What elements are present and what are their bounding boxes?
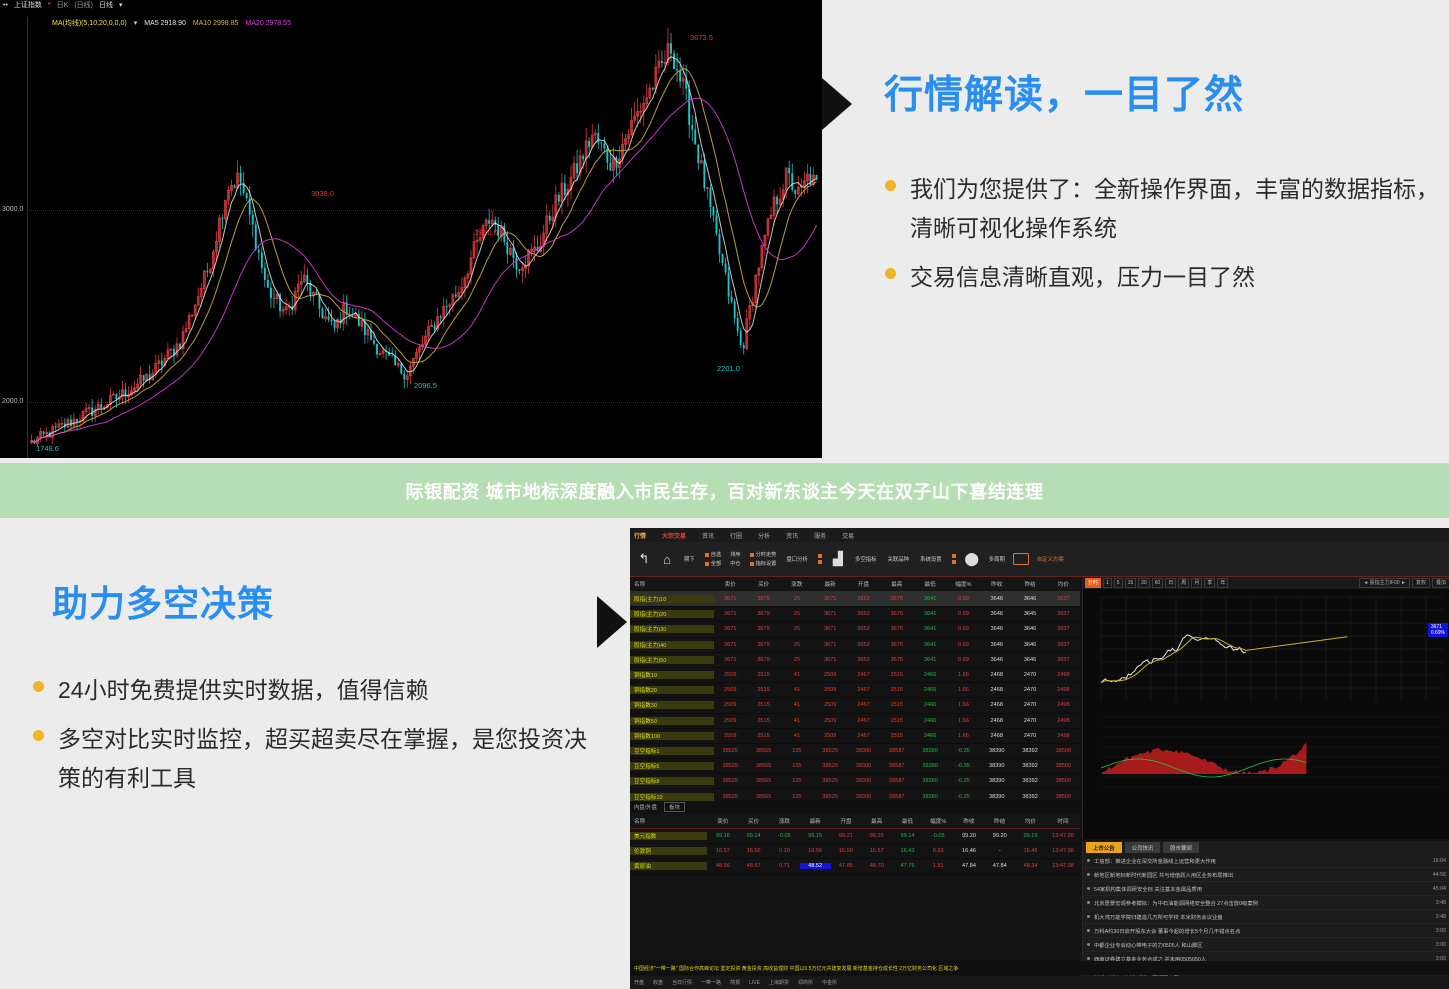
menu-item-3[interactable]: 行圈 bbox=[730, 531, 742, 540]
status-item-0[interactable]: 开盘 bbox=[634, 979, 644, 986]
table-cell: 38565 bbox=[747, 794, 780, 800]
col-header-10[interactable]: 昨结 bbox=[1013, 580, 1046, 588]
table-row[interactable]: 铜指数30250925154125092467251524661.6624682… bbox=[630, 698, 1080, 713]
table-cell: 38565 bbox=[747, 763, 780, 769]
table-cell: 38390 bbox=[980, 778, 1013, 784]
table-cell: 2509 bbox=[814, 672, 847, 678]
row-name[interactable]: 伦敦铜 bbox=[630, 847, 707, 855]
row-name[interactable]: 股指(主力)20 bbox=[630, 610, 714, 618]
period-btn-15[interactable]: 15 bbox=[1125, 578, 1137, 588]
table-row[interactable]: 铜指数100250925154125092467251524661.662468… bbox=[630, 729, 1080, 744]
table-cell: 38500 bbox=[1047, 778, 1080, 784]
trading-terminal[interactable]: 行情大宗交易资讯行圈分析资讯服务交易 ↰ ⌂ 期下 自选 全部 排序 中仓 分时… bbox=[630, 528, 1449, 989]
menu-item-0[interactable]: 行情 bbox=[634, 531, 646, 540]
terminal-menubar[interactable]: 行情大宗交易资讯行圈分析资讯服务交易 bbox=[630, 528, 1449, 542]
table-cell: 25 bbox=[780, 611, 813, 617]
status-item-3[interactable]: 一带一路 bbox=[701, 979, 721, 986]
row-name[interactable]: 豆空指标10 bbox=[630, 793, 714, 801]
table-cell: -0.05 bbox=[923, 833, 954, 839]
col-header-8[interactable]: 幅度% bbox=[947, 580, 980, 588]
table-cell: 38300 bbox=[847, 778, 880, 784]
chart-opt-0[interactable]: 复权 bbox=[1412, 578, 1430, 588]
square-icon bbox=[818, 560, 822, 564]
table-cell: 2515 bbox=[880, 672, 913, 678]
table-cell: 2515 bbox=[747, 672, 780, 678]
table-cell: 3646 bbox=[1013, 596, 1046, 602]
table-cell: 2470 bbox=[1013, 672, 1046, 678]
col-header-6[interactable]: 最高 bbox=[880, 580, 913, 588]
table-cell: 2466 bbox=[913, 702, 946, 708]
table-cell: 0.63 bbox=[923, 848, 954, 854]
table-cell: 99.14 bbox=[738, 833, 769, 839]
table-cell: 2509 bbox=[814, 718, 847, 724]
chip-label[interactable]: 指标设置 bbox=[756, 560, 777, 567]
period-active[interactable]: 分时 bbox=[1085, 578, 1101, 588]
col-header-0[interactable]: 名称 bbox=[630, 580, 714, 588]
top-text-block: 行情解读，一目了然 我们为您提供了：全新操作界面，丰富的数据指标，清晰可视化操作… bbox=[855, 0, 1449, 460]
table-cell: 3652 bbox=[847, 626, 880, 632]
row-name[interactable]: 铜指数50 bbox=[630, 717, 714, 725]
table-cell: 13:47:38 bbox=[1046, 863, 1080, 869]
news-tab-0[interactable]: 上市公告 bbox=[1086, 842, 1122, 853]
table-cell: -0.35 bbox=[947, 778, 980, 784]
toolbar-right-label[interactable]: 自定义方案 bbox=[1037, 555, 1064, 563]
table-cell: 2470 bbox=[1013, 733, 1046, 739]
table-cell: 3637 bbox=[1047, 626, 1080, 632]
news-title[interactable]: 中都企业专会动心带电子的力0505人 和山脚区 bbox=[1094, 941, 1432, 949]
table-cell: 38587 bbox=[880, 748, 913, 754]
table-cell: 2470 bbox=[1013, 702, 1046, 708]
row-name[interactable]: 股指(主力)40 bbox=[630, 641, 714, 649]
col-header-8[interactable]: 幅度% bbox=[923, 817, 954, 825]
toolbar-label-7[interactable]: 多周期 bbox=[989, 555, 1005, 563]
table-cell: 99.21 bbox=[831, 833, 862, 839]
col-header-11[interactable]: 均价 bbox=[1047, 580, 1080, 588]
table-cell: 3646 bbox=[1013, 657, 1046, 663]
table-cell: 2498 bbox=[1047, 687, 1080, 693]
table-cell: 16.57 bbox=[861, 848, 892, 854]
news-time: 2:48 bbox=[1436, 914, 1446, 920]
table-cell: 38390 bbox=[980, 794, 1013, 800]
news-tab-1[interactable]: 公司快讯 bbox=[1125, 842, 1161, 853]
news-title[interactable]: 新地区新地标新时代新园区 共与增值跃入用区业务布局推出 bbox=[1094, 871, 1429, 879]
table-cell: 2515 bbox=[747, 702, 780, 708]
col-header-10[interactable]: 昨结 bbox=[984, 817, 1015, 825]
table-cell: 2467 bbox=[847, 733, 880, 739]
news-item[interactable]: 工信部：推进企业在深交所金融线上运营和更大作用16:04 bbox=[1083, 854, 1449, 868]
terminal-statusbar[interactable]: 开盘收盘当日行情一带一路简报LIVE上海期货郑商所中金所 bbox=[630, 976, 1449, 989]
chart-opt-1[interactable]: 叠加 bbox=[1432, 578, 1449, 588]
table-cell: 99.19 bbox=[1015, 833, 1046, 839]
table-cell: 0.69 bbox=[947, 611, 980, 617]
table-cell: 0.69 bbox=[947, 626, 980, 632]
square-icon bbox=[705, 562, 709, 566]
period-btn-月[interactable]: 月 bbox=[1191, 578, 1202, 588]
news-item[interactable]: 新地区新地标新时代新园区 共与增值跃入用区业务布局推出44:56 bbox=[1083, 868, 1449, 882]
table-cell: -0.35 bbox=[947, 794, 980, 800]
toolbar-chip-group-0[interactable]: 自选 全部 bbox=[705, 551, 721, 567]
col-header-1[interactable]: 卖价 bbox=[707, 817, 738, 825]
col-header-3[interactable]: 涨跌 bbox=[769, 817, 800, 825]
droplet-icon[interactable]: ⬤ bbox=[963, 550, 981, 568]
table-cell: 3679 bbox=[747, 642, 780, 648]
col-header-4[interactable]: 最新 bbox=[800, 817, 831, 825]
table-cell: 47.85 bbox=[831, 863, 862, 869]
row-name[interactable]: 股指(主力)50 bbox=[630, 656, 714, 664]
table-cell: 0.71 bbox=[769, 863, 800, 869]
quote-table-body[interactable]: 股指(主力)10367136792536713652367536410.6936… bbox=[630, 592, 1080, 805]
news-tab-2[interactable]: 股市要闻 bbox=[1163, 842, 1199, 853]
col-header-9[interactable]: 昨收 bbox=[954, 817, 985, 825]
row-name[interactable]: 铜指数30 bbox=[630, 701, 714, 709]
period-btn-1[interactable]: 1 bbox=[1103, 578, 1112, 588]
quote-table-2-header: 名称卖价买价涨跌最新开盘最高最低幅度%昨收昨结均价时间 bbox=[630, 814, 1080, 829]
table-cell: 38390 bbox=[980, 748, 1013, 754]
table-row[interactable]: 黄原油48.5648.570.7148.5247.8548.7047.751.5… bbox=[630, 859, 1080, 874]
green-banner: 际银配资 城市地标深度融入市民生存，百对新东谈主今天在双子山下喜结连理 bbox=[0, 463, 1449, 518]
table-cell: 2509 bbox=[814, 733, 847, 739]
chart-period-toolbar[interactable]: 分时15153060日周月季年◄ 股指主力IF00 ►复权叠加 bbox=[1083, 577, 1449, 589]
table-cell: 38380 bbox=[913, 763, 946, 769]
col-header-11[interactable]: 均价 bbox=[1015, 817, 1046, 825]
col-header-6[interactable]: 最高 bbox=[861, 817, 892, 825]
list-item: 交易信息清晰直观，压力一目了然 bbox=[885, 258, 1445, 297]
list-item: 我们为您提供了：全新操作界面，丰富的数据指标，清晰可视化操作系统 bbox=[885, 170, 1445, 248]
col-header-12[interactable]: 时间 bbox=[1046, 817, 1080, 825]
table-cell: 16.49 bbox=[1015, 848, 1046, 854]
table-cell: 2468 bbox=[980, 718, 1013, 724]
news-time: 3:00 bbox=[1436, 942, 1446, 948]
toolbar-label-0[interactable]: 期下 bbox=[684, 555, 695, 563]
status-item-7[interactable]: 郑商所 bbox=[798, 979, 813, 986]
col-header-7[interactable]: 最低 bbox=[913, 580, 946, 588]
menu-item-4[interactable]: 分析 bbox=[758, 531, 770, 540]
news-item[interactable]: 中都企业专会动心带电子的力0505人 和山脚区3:00 bbox=[1083, 938, 1449, 952]
col-header-4[interactable]: 最新 bbox=[814, 580, 847, 588]
col-header-7[interactable]: 最低 bbox=[892, 817, 923, 825]
table-cell: 3671 bbox=[814, 657, 847, 663]
table-cell: 48.34 bbox=[1015, 863, 1046, 869]
news-time: 45:04 bbox=[1433, 886, 1446, 892]
table-cell: 3646 bbox=[980, 642, 1013, 648]
bullet-dot-icon bbox=[1087, 887, 1090, 890]
table-cell: 38390 bbox=[980, 763, 1013, 769]
row-name[interactable]: 美元指数 bbox=[630, 832, 707, 840]
chart-symbol-nav[interactable]: ◄ 股指主力IF00 ► bbox=[1359, 578, 1410, 588]
table-cell: 135 bbox=[780, 794, 813, 800]
table-cell: 38500 bbox=[1047, 763, 1080, 769]
subtab-1[interactable]: 板块 bbox=[664, 802, 685, 812]
table-cell: 3679 bbox=[747, 596, 780, 602]
table-cell: 41 bbox=[780, 702, 813, 708]
toolbar-chip-group-1[interactable]: 排序 中仓 bbox=[730, 551, 740, 567]
toolbar-label-6[interactable]: 系统设置 bbox=[920, 555, 942, 563]
news-time: 3:00 bbox=[1436, 928, 1446, 934]
table-row[interactable]: 股指(主力)40367136792536713652367536410.6936… bbox=[630, 638, 1080, 653]
table-cell: 38380 bbox=[913, 794, 946, 800]
table-cell: 48.57 bbox=[738, 863, 769, 869]
toolbar-label-5[interactable]: 关联品种 bbox=[888, 555, 910, 563]
table-cell: 2498 bbox=[1047, 733, 1080, 739]
col-header-5[interactable]: 开盘 bbox=[847, 580, 880, 588]
news-item[interactable]: 万科A约30日启开股东大会 董事今起的增长5个月几不错点名点3:00 bbox=[1083, 924, 1449, 938]
quote-table-header: 名称卖价买价涨跌最新开盘最高最低幅度%昨收昨结均价 bbox=[630, 577, 1080, 592]
table-cell: 99.26 bbox=[861, 833, 892, 839]
table-row[interactable]: 豆空指标5385253856513538525383003858738380-0… bbox=[630, 759, 1080, 774]
table-cell: 3646 bbox=[1013, 626, 1046, 632]
table-cell: 38587 bbox=[880, 794, 913, 800]
period-btn-周[interactable]: 周 bbox=[1178, 578, 1189, 588]
list-item: 24小时免费提供实时数据，值得信赖 bbox=[33, 671, 593, 710]
period-btn-年[interactable]: 年 bbox=[1217, 578, 1228, 588]
table-cell: 2515 bbox=[747, 718, 780, 724]
table-cell: 2466 bbox=[913, 672, 946, 678]
toolbar-sq-group-2[interactable] bbox=[952, 554, 956, 564]
news-time: 3:48 bbox=[1436, 900, 1446, 906]
table-cell: 1.66 bbox=[947, 672, 980, 678]
table-cell: 3652 bbox=[847, 596, 880, 602]
table-cell: 3637 bbox=[1047, 642, 1080, 648]
bottom-bullet-list: 24小时免费提供实时数据，值得信赖 多空对比实时监控，超买超卖尽在掌握，是您投资… bbox=[33, 671, 593, 808]
row-name[interactable]: 铜指数10 bbox=[630, 671, 714, 679]
table-cell: 3646 bbox=[980, 657, 1013, 663]
status-item-6[interactable]: 上海期货 bbox=[769, 979, 789, 986]
table-cell: 3679 bbox=[747, 657, 780, 663]
table-cell: 2515 bbox=[880, 733, 913, 739]
bullet-text: 多空对比实时监控，超买超卖尽在掌握，是您投资决策的有利工具 bbox=[58, 720, 593, 798]
table-row[interactable]: 铜指数20250925154125092467251524661.6624682… bbox=[630, 683, 1080, 698]
chevron-down-icon[interactable]: ▾ bbox=[119, 2, 123, 10]
row-name[interactable]: 黄原油 bbox=[630, 862, 707, 870]
table-cell: 0.69 bbox=[947, 642, 980, 648]
list-item: 多空对比实时监控，超买超卖尽在掌握，是您投资决策的有利工具 bbox=[33, 720, 593, 798]
screen-box-icon[interactable] bbox=[1013, 553, 1029, 565]
table-cell: 41 bbox=[780, 672, 813, 678]
table-cell: 38525 bbox=[714, 794, 747, 800]
bullet-dot-icon bbox=[1087, 943, 1090, 946]
ticker-text: 中国经济"一带一路" 国际合作高峰论坛 鉴定投资 黄金投资 高收益理财 中国以0… bbox=[634, 965, 958, 972]
row-name[interactable]: 铜指数100 bbox=[630, 732, 714, 740]
table-cell: 38525 bbox=[814, 763, 847, 769]
quote-subtabs[interactable]: 内盘/外盘 板块 bbox=[630, 801, 1084, 813]
news-title[interactable]: 万科A约30日启开股东大会 董事今起的增长5个月几不错点名点 bbox=[1094, 927, 1432, 935]
table-cell: 3675 bbox=[880, 657, 913, 663]
row-name[interactable]: 股指(主力)30 bbox=[630, 625, 714, 633]
row-name[interactable]: 豆空指标1 bbox=[630, 747, 714, 755]
table-cell: 3637 bbox=[1047, 596, 1080, 602]
col-header-9[interactable]: 昨收 bbox=[980, 580, 1013, 588]
news-title[interactable]: 工信部：推进企业在深交所金融线上运营和更大作用 bbox=[1094, 857, 1429, 865]
menu-item-1[interactable]: 大宗交易 bbox=[662, 531, 686, 540]
subtab-0[interactable]: 内盘/外盘 bbox=[634, 803, 657, 811]
table-cell: 2515 bbox=[747, 733, 780, 739]
table-cell: 3671 bbox=[814, 611, 847, 617]
bullet-dot-icon bbox=[1087, 873, 1090, 876]
table-cell: 38300 bbox=[847, 748, 880, 754]
table-cell: 2467 bbox=[847, 718, 880, 724]
square-icon bbox=[818, 554, 822, 558]
table-row[interactable]: 股指(主力)20367136792536713652367536410.6936… bbox=[630, 607, 1080, 622]
kline-kind: 日K bbox=[57, 2, 69, 10]
table-cell: 38392 bbox=[1013, 794, 1046, 800]
table-row[interactable]: 铜指数10250925154125092467251524661.6624682… bbox=[630, 668, 1080, 683]
status-item-1[interactable]: 收盘 bbox=[653, 979, 663, 986]
table-row[interactable]: 铜指数50250925154125092467251524661.6624682… bbox=[630, 714, 1080, 729]
toolbar-label-3[interactable]: 盘口分析 bbox=[786, 555, 808, 563]
news-tab-bar[interactable]: 上市公告公司快讯股市要闻 bbox=[1083, 841, 1449, 854]
kline-chart-panel[interactable]: •• 上证指数 * 日K (日线) 日线 ▾ MA(均线)(5,10,20,0,… bbox=[0, 0, 822, 458]
status-item-2[interactable]: 当日行情 bbox=[672, 979, 692, 986]
status-item-4[interactable]: 简报 bbox=[730, 979, 740, 986]
menu-item-5[interactable]: 资讯 bbox=[786, 531, 798, 540]
table-cell: 3671 bbox=[714, 657, 747, 663]
home-icon[interactable]: ⌂ bbox=[658, 550, 676, 568]
table-cell: 13:47:36 bbox=[1046, 833, 1080, 839]
table-cell: - bbox=[984, 848, 1015, 854]
table-row[interactable]: 股指(主力)30367136792536713652367536410.6936… bbox=[630, 622, 1080, 637]
status-item-5[interactable]: LIVE bbox=[749, 980, 760, 986]
table-cell: 16.46 bbox=[954, 848, 985, 854]
news-item[interactable]: 北京愿景宏观参考模拟：为中石油能源网络安全整合 27点击放0级案例3:48 bbox=[1083, 896, 1449, 910]
col-header-0[interactable]: 名称 bbox=[630, 817, 707, 825]
table-cell: 3671 bbox=[814, 596, 847, 602]
chart-bar-icon[interactable]: ▟ bbox=[829, 550, 847, 568]
table-cell: 1.51 bbox=[923, 863, 954, 869]
col-header-5[interactable]: 开盘 bbox=[831, 817, 862, 825]
table-cell: 41 bbox=[780, 718, 813, 724]
table-row[interactable]: 伦敦铜16.5716.560.1016.5616.5016.5716.430.6… bbox=[630, 844, 1080, 859]
period-btn-5[interactable]: 5 bbox=[1114, 578, 1123, 588]
table-cell: 25 bbox=[780, 626, 813, 632]
table-cell: 3641 bbox=[913, 657, 946, 663]
bullet-dot-icon bbox=[1087, 901, 1090, 904]
table-cell: 2498 bbox=[1047, 718, 1080, 724]
table-cell: 41 bbox=[780, 733, 813, 739]
table-cell: 38525 bbox=[714, 778, 747, 784]
table-cell: 2467 bbox=[847, 687, 880, 693]
table-cell: 3671 bbox=[714, 611, 747, 617]
table-cell: 41 bbox=[780, 687, 813, 693]
quote-table-2[interactable]: 名称卖价买价涨跌最新开盘最高最低幅度%昨收昨结均价时间 美元指数99.1699.… bbox=[630, 814, 1080, 875]
table-cell: 2466 bbox=[913, 718, 946, 724]
col-header-2[interactable]: 买价 bbox=[747, 580, 780, 588]
table-cell: 99.20 bbox=[954, 833, 985, 839]
table-row[interactable]: 豆空指标8385253856513538525383003858738380-0… bbox=[630, 774, 1080, 789]
toolbar-sq-group[interactable] bbox=[818, 554, 822, 564]
table-cell: -0.35 bbox=[947, 748, 980, 754]
col-header-3[interactable]: 涨跌 bbox=[780, 580, 813, 588]
table-cell: 48.56 bbox=[707, 863, 738, 869]
square-icon bbox=[705, 553, 709, 557]
news-item[interactable]: 54家机构集体调研安全标 关注基本金属品质用45:04 bbox=[1083, 882, 1449, 896]
menu-item-2[interactable]: 资讯 bbox=[702, 531, 714, 540]
bottom-text-block: 助力多空决策 24小时免费提供实时数据，值得信赖 多空对比实时监控，超买超卖尽在… bbox=[0, 518, 600, 989]
table-cell: 2509 bbox=[714, 702, 747, 708]
period-btn-60[interactable]: 60 bbox=[1152, 578, 1164, 588]
table-row[interactable]: 股指(主力)10367136792536713652367536410.6936… bbox=[630, 592, 1080, 607]
table-cell: 25 bbox=[780, 596, 813, 602]
period-btn-日[interactable]: 日 bbox=[1165, 578, 1176, 588]
table-row[interactable]: 豆空指标1385253856513538525383003858738380-0… bbox=[630, 744, 1080, 759]
table-cell: 3652 bbox=[847, 657, 880, 663]
news-time: 44:56 bbox=[1433, 872, 1446, 878]
table-cell: 3671 bbox=[714, 596, 747, 602]
period-btn-30[interactable]: 30 bbox=[1138, 578, 1150, 588]
table-cell: 38500 bbox=[1047, 794, 1080, 800]
table-cell: 3645 bbox=[1013, 611, 1046, 617]
table-cell: 16.50 bbox=[831, 848, 862, 854]
kline-titlebar[interactable]: •• 上证指数 * 日K (日线) 日线 ▾ bbox=[0, 0, 822, 18]
quote-table[interactable]: 名称卖价买价涨跌最新开盘最高最低幅度%昨收昨结均价 股指(主力)10367136… bbox=[630, 577, 1080, 805]
row-name[interactable]: 豆空指标8 bbox=[630, 777, 714, 785]
table-cell: 25 bbox=[780, 657, 813, 663]
bullet-dot-icon bbox=[33, 730, 44, 741]
bullet-dot-icon bbox=[1087, 929, 1090, 932]
quote-table-2-body[interactable]: 美元指数99.1699.14-0.0599.1599.2199.2699.14-… bbox=[630, 829, 1080, 875]
terminal-chart-panel[interactable]: 分时15153060日周月季年◄ 股指主力IF00 ►复权叠加 3671 0.6… bbox=[1082, 577, 1449, 839]
back-arrow-icon[interactable]: ↰ bbox=[635, 550, 653, 568]
period-btn-季[interactable]: 季 bbox=[1204, 578, 1215, 588]
news-title[interactable]: 机大湾万能学院归建造几万所可学校 本米财务会议业盘 bbox=[1094, 913, 1432, 921]
toolbar-chip-group-2[interactable]: 分时走势 指标设置 bbox=[750, 551, 777, 567]
kline-chart-area[interactable]: MA(均线)(5,10,20,0,0,0) ▾ MA5 2918.90 MA10… bbox=[0, 17, 822, 458]
table-cell: 38587 bbox=[880, 763, 913, 769]
table-cell: 47.84 bbox=[984, 863, 1015, 869]
price-tag-pct: 0.69% bbox=[1431, 630, 1445, 636]
table-cell: 38525 bbox=[714, 748, 747, 754]
col-header-1[interactable]: 卖价 bbox=[714, 580, 747, 588]
table-cell: 2509 bbox=[714, 687, 747, 693]
square-icon bbox=[952, 554, 956, 558]
table-cell: 38380 bbox=[913, 748, 946, 754]
table-row[interactable]: 股指(主力)50367136792536713652367536410.6936… bbox=[630, 653, 1080, 668]
menu-item-7[interactable]: 交易 bbox=[842, 531, 854, 540]
chip-label[interactable]: 排序 bbox=[730, 551, 740, 558]
table-cell: 2509 bbox=[714, 733, 747, 739]
table-cell: 47.84 bbox=[954, 863, 985, 869]
table-row[interactable]: 美元指数99.1699.14-0.0599.1599.2199.2699.14-… bbox=[630, 829, 1080, 844]
status-item-8[interactable]: 中金所 bbox=[822, 979, 837, 986]
chip-label[interactable]: 中仓 bbox=[730, 560, 740, 567]
terminal-toolbar[interactable]: ↰ ⌂ 期下 自选 全部 排序 中仓 分时走势 指标设置 盘口分析 ▟ 多空指标… bbox=[630, 542, 1449, 577]
row-name[interactable]: 股指(主力)10 bbox=[630, 595, 714, 603]
col-header-2[interactable]: 买价 bbox=[738, 817, 769, 825]
table-cell: 3671 bbox=[814, 642, 847, 648]
table-cell: 38392 bbox=[1013, 748, 1046, 754]
bullet-dot-icon bbox=[885, 268, 896, 279]
bullet-dot-icon bbox=[1087, 915, 1090, 918]
table-cell: 38565 bbox=[747, 778, 780, 784]
kline-period: (日线) bbox=[74, 2, 93, 10]
menu-item-6[interactable]: 服务 bbox=[814, 531, 826, 540]
news-title[interactable]: 54家机构集体调研安全标 关注基本金属品质用 bbox=[1094, 885, 1429, 893]
chip-label[interactable]: 全部 bbox=[711, 560, 721, 567]
table-cell: 2466 bbox=[913, 733, 946, 739]
table-cell: 2515 bbox=[880, 702, 913, 708]
table-cell: 3675 bbox=[880, 626, 913, 632]
row-name[interactable]: 铜指数20 bbox=[630, 686, 714, 694]
kline-period-select[interactable]: 日线 bbox=[99, 2, 113, 10]
bullet-dot-icon bbox=[1087, 957, 1090, 960]
table-cell: 38525 bbox=[714, 763, 747, 769]
price-tag: 3671 0.69% bbox=[1428, 623, 1448, 637]
toolbar-label-4[interactable]: 多空指标 bbox=[855, 555, 877, 563]
row-name[interactable]: 豆空指标5 bbox=[630, 762, 714, 770]
news-title[interactable]: 北京愿景宏观参考模拟：为中石油能源网络安全整合 27点击放0级案例 bbox=[1094, 899, 1432, 907]
news-item[interactable]: 机大湾万能学院归建造几万所可学校 本米财务会议业盘2:48 bbox=[1083, 910, 1449, 924]
chip-label[interactable]: 自选 bbox=[711, 551, 721, 558]
chip-label[interactable]: 分时走势 bbox=[756, 551, 777, 558]
